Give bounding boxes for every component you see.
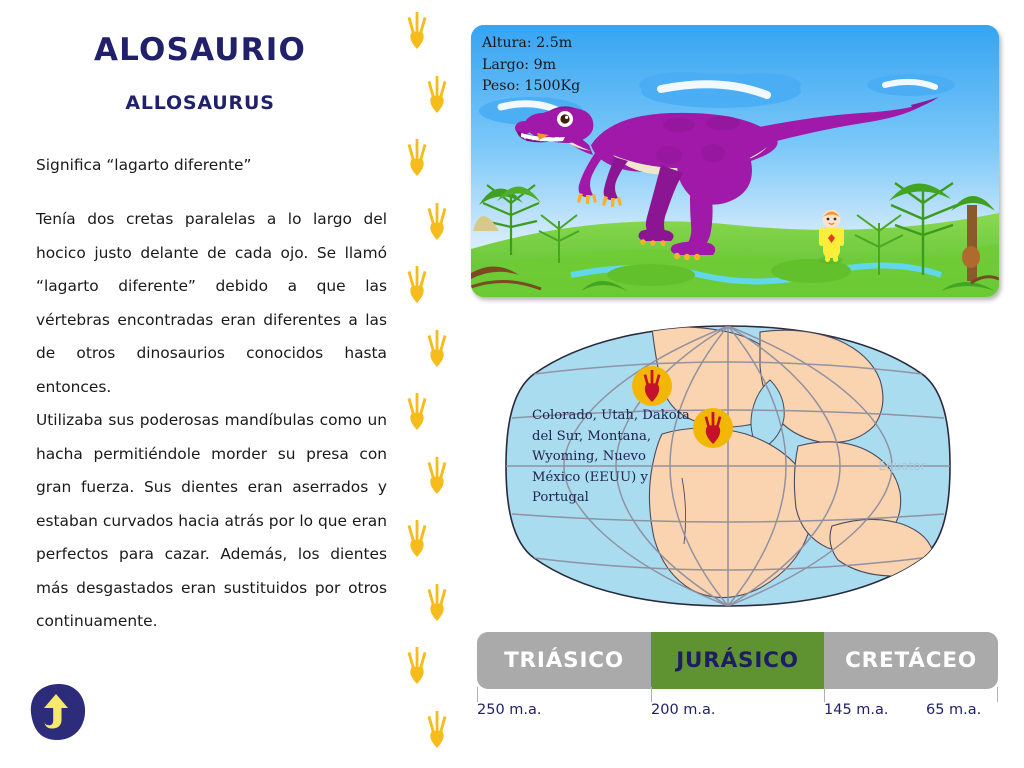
pangaea-map: Equator Colorado, Utah, Dakota del Sur, … bbox=[502, 322, 954, 610]
back-arrow-icon bbox=[26, 682, 88, 742]
timeline-scale: 250 m.a. 200 m.a. 145 m.a. 65 m.a. bbox=[477, 702, 998, 726]
text-column: ALOSAURIO ALLOSAURUS Significa “lagarto … bbox=[0, 0, 400, 768]
description-paragraph-1: Tenía dos cretas paralelas a lo largo de… bbox=[36, 203, 387, 404]
page-title: ALOSAURIO bbox=[0, 32, 400, 68]
footprint-icon bbox=[420, 582, 454, 622]
footprint-icon bbox=[400, 518, 434, 558]
footprint-icon bbox=[420, 201, 454, 241]
footprint-icon bbox=[420, 455, 454, 495]
footprint-icon bbox=[400, 264, 434, 304]
description-paragraph-2: Utilizaba sus poderosas mandíbulas como … bbox=[36, 404, 387, 639]
footprint-marker-icon bbox=[630, 364, 674, 408]
timeline-bar: TRIÁSICO JURÁSICO CRETÁCEO bbox=[477, 632, 998, 689]
period-jurasico[interactable]: JURÁSICO bbox=[651, 632, 824, 689]
timeline-tick bbox=[824, 687, 825, 702]
scale-label: 65 m.a. bbox=[926, 702, 981, 718]
scale-label: 145 m.a. bbox=[824, 702, 889, 718]
footprint-icon bbox=[420, 709, 454, 749]
footprint-icon bbox=[420, 74, 454, 114]
footprint-icon bbox=[400, 10, 434, 50]
fossil-marker[interactable] bbox=[630, 364, 674, 408]
scale-label: 200 m.a. bbox=[651, 702, 716, 718]
period-cretaceo[interactable]: CRETÁCEO bbox=[824, 632, 998, 689]
fossil-locations-text: Colorado, Utah, Dakota del Sur, Montana,… bbox=[532, 406, 712, 509]
infographic-page: ALOSAURIO ALLOSAURUS Significa “lagarto … bbox=[0, 0, 1024, 768]
scientific-name: ALLOSAURUS bbox=[0, 92, 400, 114]
scale-label: 250 m.a. bbox=[477, 702, 542, 718]
footprint-icon bbox=[400, 645, 434, 685]
timeline-tick bbox=[997, 687, 998, 702]
dinosaur-stats: Altura: 2.5m Largo: 9m Peso: 1500Kg bbox=[482, 33, 580, 98]
period-triasico[interactable]: TRIÁSICO bbox=[477, 632, 651, 689]
footprint-marker-icon bbox=[691, 406, 735, 450]
fossil-marker[interactable] bbox=[691, 406, 735, 450]
timeline-tick bbox=[651, 687, 652, 702]
back-button[interactable] bbox=[26, 682, 88, 742]
equator-label: Equator bbox=[878, 459, 925, 473]
footprint-icon bbox=[400, 391, 434, 431]
geologic-timeline: TRIÁSICO JURÁSICO CRETÁCEO 250 m.a. 200 … bbox=[477, 632, 998, 732]
meaning-line: Significa “lagarto diferente” bbox=[36, 149, 387, 183]
footprint-icon bbox=[400, 137, 434, 177]
footprint-trail bbox=[398, 0, 468, 768]
dinosaur-scene-panel: Altura: 2.5m Largo: 9m Peso: 1500Kg bbox=[471, 25, 999, 297]
timeline-tick bbox=[477, 687, 478, 702]
footprint-icon bbox=[420, 328, 454, 368]
